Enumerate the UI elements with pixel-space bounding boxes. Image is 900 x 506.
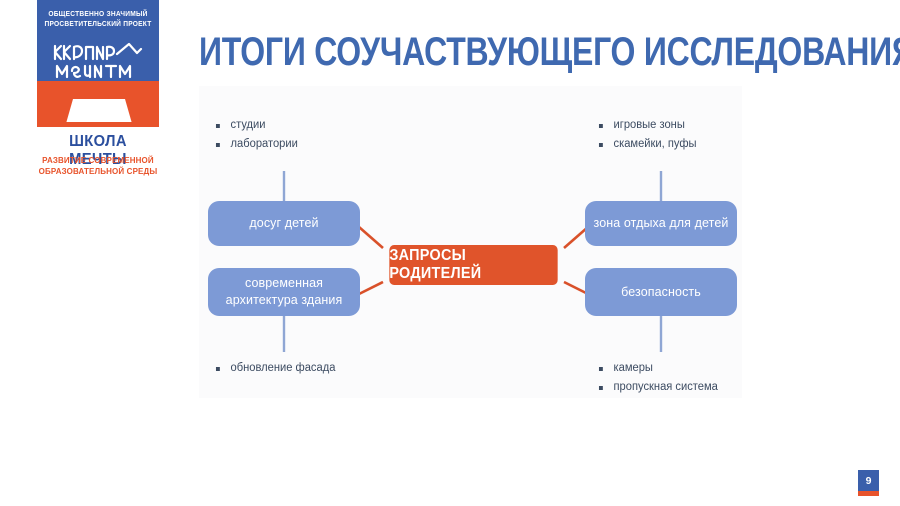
node-leisure[interactable]: досуг детей [208, 201, 360, 246]
logo-house-icon [37, 81, 159, 127]
logo-emblem: ОБЩЕСТВЕННО ЗНАЧИМЫЙ ПРОСВЕТИТЕЛЬСКИЙ ПР… [37, 0, 159, 127]
page-badge-accent-bar [858, 491, 879, 496]
node-safety-label: безопасность [621, 284, 701, 301]
list-item: пропускная система [598, 378, 718, 397]
node-architecture-label: современная архитектура здания [216, 275, 352, 309]
logo-tagline-bottom-line1: РАЗВИТИЕ СОВРЕМЕННОЙ [36, 155, 161, 166]
list-item: игровые зоны [598, 116, 697, 135]
logo-tagline-top-line2: ПРОСВЕТИТЕЛЬСКИЙ ПРОЕКТ [42, 19, 154, 29]
page-number-badge: 9 [858, 470, 879, 496]
node-safety[interactable]: безопасность [585, 268, 737, 316]
list-item: камеры [598, 359, 718, 378]
notes-bottom-right: камеры пропускная система [598, 359, 722, 397]
node-architecture[interactable]: современная архитектура здания [208, 268, 360, 316]
logo-tagline-top: ОБЩЕСТВЕННО ЗНАЧИМЫЙ ПРОСВЕТИТЕЛЬСКИЙ ПР… [42, 9, 154, 28]
notes-top-right: игровые зоны скамейки, пуфы [598, 116, 700, 154]
list-item: скамейки, пуфы [598, 135, 697, 154]
list-item: лаборатории [215, 135, 298, 154]
list-item: студии [215, 116, 298, 135]
notes-top-left: студии лаборатории [215, 116, 300, 154]
page-number-value: 9 [858, 470, 879, 491]
list-item: обновление фасада [215, 359, 335, 378]
node-center-label: ЗАПРОСЫ РОДИТЕЛЕЙ [389, 247, 557, 283]
node-leisure-label: досуг детей [249, 215, 318, 232]
page-title: ИТОГИ СОУЧАСТВУЮЩЕГО ИССЛЕДОВАНИЯ [199, 30, 900, 74]
node-rest-zone[interactable]: зона отдыха для детей [585, 201, 737, 246]
node-rest-zone-label: зона отдыха для детей [594, 215, 729, 232]
brand-logo: ОБЩЕСТВЕННО ЗНАЧИМЫЙ ПРОСВЕТИТЕЛЬСКИЙ ПР… [37, 0, 159, 190]
logo-tagline-top-line1: ОБЩЕСТВЕННО ЗНАЧИМЫЙ [42, 9, 154, 19]
logo-tagline-bottom: РАЗВИТИЕ СОВРЕМЕННОЙ ОБРАЗОВАТЕЛЬНОЙ СРЕ… [36, 155, 161, 177]
node-center-parent-requests[interactable]: ЗАПРОСЫ РОДИТЕЛЕЙ [389, 245, 557, 285]
notes-bottom-left: обновление фасада [215, 359, 339, 378]
logo-tagline-bottom-line2: ОБРАЗОВАТЕЛЬНОЙ СРЕДЫ [36, 166, 161, 177]
logo-script-lettering-icon [51, 40, 145, 80]
